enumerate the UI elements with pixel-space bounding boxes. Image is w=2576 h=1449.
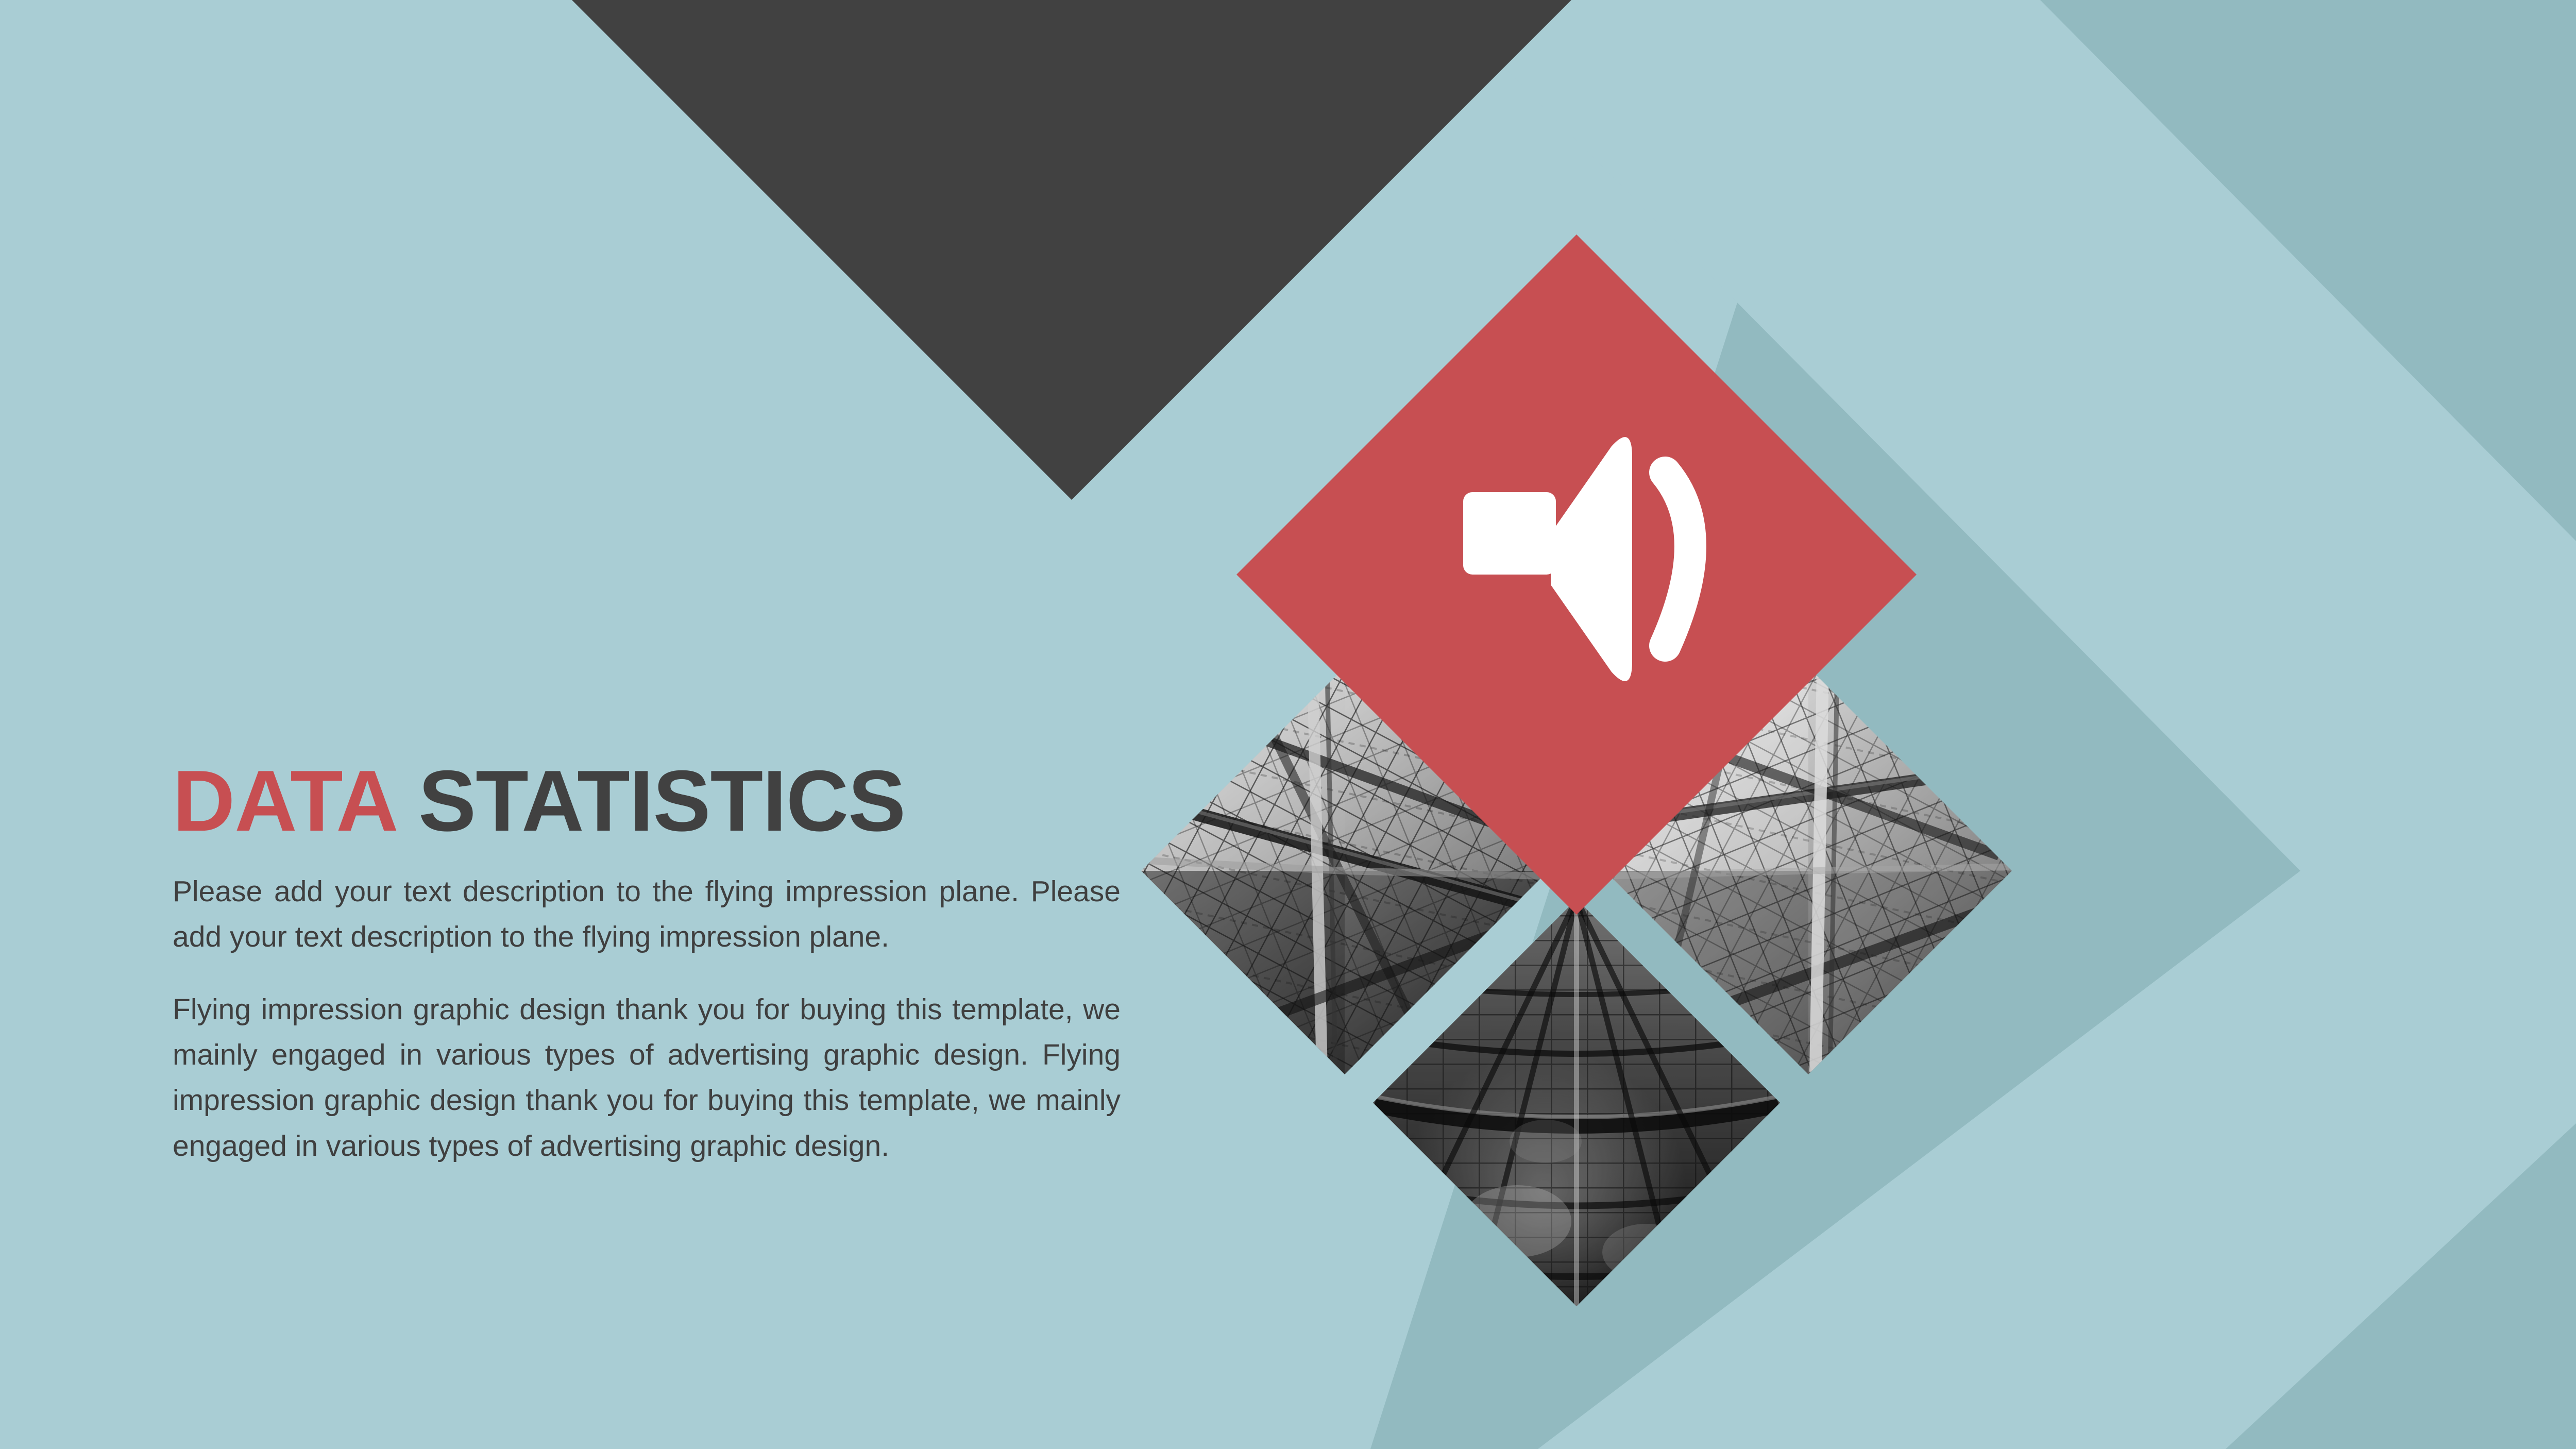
body-paragraph-1: Please add your text description to the … <box>173 869 1121 960</box>
slide-text-block: DATA STATISTICS Please add your text des… <box>173 757 1121 1169</box>
page-title-accent-word: DATA <box>173 752 395 849</box>
page-title: DATA STATISTICS <box>173 757 1121 844</box>
page-title-main-word: STATISTICS <box>418 752 905 849</box>
presentation-slide: DATA STATISTICS Please add your text des… <box>0 0 2576 1449</box>
slide-background-graphics <box>0 0 2576 1449</box>
page-title-space <box>395 752 418 849</box>
body-paragraph-2: Flying impression graphic design thank y… <box>173 987 1121 1169</box>
